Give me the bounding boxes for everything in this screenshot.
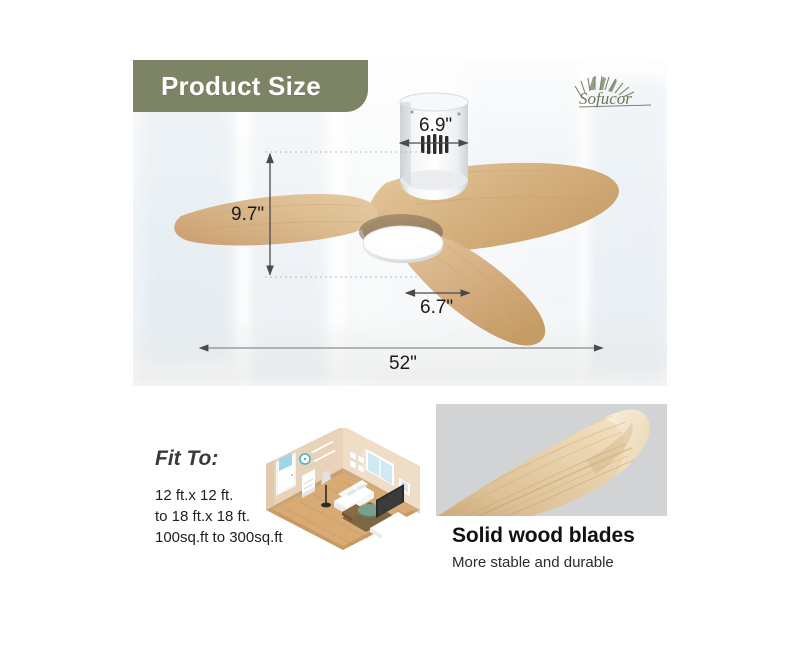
fit-to-line: 12 ft.x 12 ft. — [155, 485, 315, 506]
infographic-page: Product Size Sofucor — [0, 0, 800, 651]
fit-to-block: Fit To: 12 ft.x 12 ft. to 18 ft.x 18 ft.… — [155, 447, 315, 548]
page-title: Product Size — [161, 71, 321, 102]
fan-motor-housing — [400, 93, 468, 200]
fan-light-disc — [363, 226, 443, 263]
blade-feature-heading: Solid wood blades — [452, 524, 692, 548]
fit-to-title: Fit To: — [155, 447, 315, 471]
fit-to-line: to 18 ft.x 18 ft. — [155, 506, 315, 527]
blade-closeup-panel — [436, 404, 667, 516]
dimension-label-span: 52" — [389, 353, 417, 375]
dimension-label-blade-drop: 6.7" — [420, 297, 453, 319]
fit-to-line: 100sq.ft to 300sq.ft — [155, 527, 315, 548]
sofucor-logo: Sofucor — [563, 66, 661, 110]
blade-feature-subheading: More stable and durable — [452, 554, 692, 571]
product-size-banner: Product Size — [133, 60, 368, 112]
brand-wordmark: Sofucor — [579, 89, 632, 108]
wood-blade-closeup-image — [436, 404, 667, 516]
dimension-label-height: 9.7" — [231, 204, 264, 226]
dimension-label-housing-width: 6.9" — [419, 115, 452, 137]
blade-feature-caption: Solid wood blades More stable and durabl… — [452, 524, 692, 571]
fan-blade-left — [174, 194, 377, 245]
